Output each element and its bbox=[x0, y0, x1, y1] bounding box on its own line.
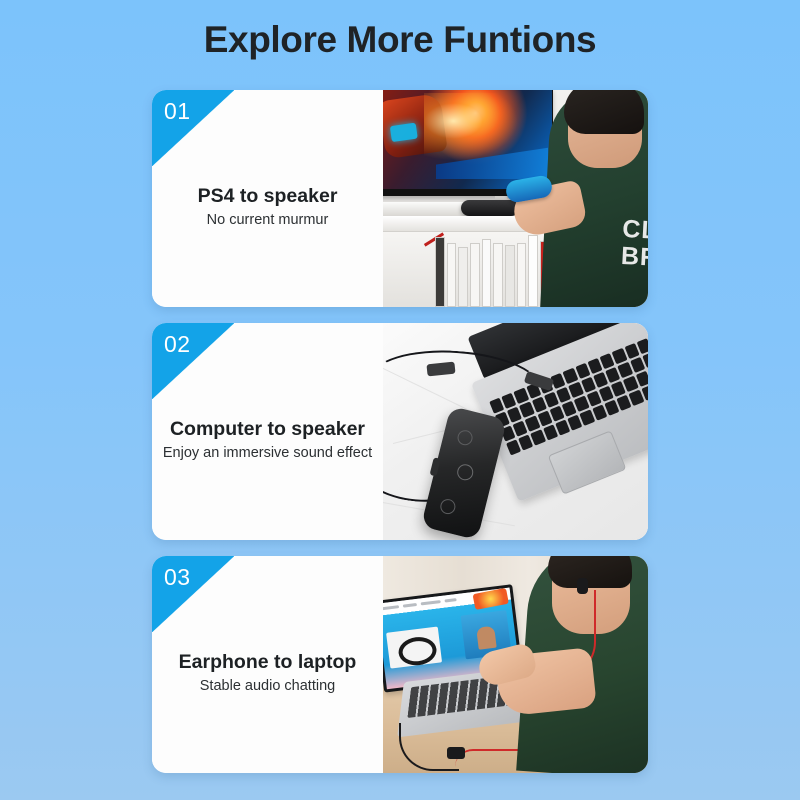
card-number: 02 bbox=[164, 331, 191, 358]
card-text-panel: 02 Computer to speaker Enjoy an immersiv… bbox=[152, 323, 383, 540]
feature-card[interactable]: 03 Earphone to laptop Stable audio chatt… bbox=[152, 556, 648, 773]
card-subtitle: Enjoy an immersive sound effect bbox=[163, 444, 372, 463]
card-text-panel: 03 Earphone to laptop Stable audio chatt… bbox=[152, 556, 383, 773]
page-title: Explore More Funtions bbox=[0, 18, 800, 62]
audio-adapter bbox=[447, 747, 465, 759]
product-image bbox=[386, 627, 442, 669]
game-explosion-glow bbox=[424, 93, 522, 163]
card-title: Computer to speaker bbox=[163, 417, 372, 441]
card-photo-computer-speaker bbox=[383, 323, 648, 540]
shirt-logo: CLBR bbox=[620, 216, 648, 274]
speaker-button-icon bbox=[456, 462, 475, 481]
card-photo-ps4-gaming: CLBR bbox=[383, 90, 648, 307]
card-subtitle: No current murmur bbox=[198, 211, 338, 230]
speaker-device bbox=[461, 200, 519, 216]
card-title: PS4 to speaker bbox=[198, 184, 338, 208]
card-title: Earphone to laptop bbox=[179, 650, 357, 674]
card-subtitle: Stable audio chatting bbox=[179, 677, 357, 696]
card-number: 03 bbox=[164, 564, 191, 591]
feature-card[interactable]: 02 Computer to speaker Enjoy an immersiv… bbox=[152, 323, 648, 540]
person-hair bbox=[548, 556, 632, 588]
card-text-wrap: Earphone to laptop Stable audio chatting bbox=[171, 650, 365, 696]
card-photo-earphone-laptop bbox=[383, 556, 648, 773]
card-text-panel: 01 PS4 to speaker No current murmur bbox=[152, 90, 383, 307]
promo-page: Explore More Funtions 01 PS4 to speaker … bbox=[0, 0, 800, 800]
book-row bbox=[435, 235, 547, 307]
person-hair bbox=[564, 90, 644, 134]
card-text-wrap: PS4 to speaker No current murmur bbox=[190, 184, 346, 230]
feature-card-list: 01 PS4 to speaker No current murmur bbox=[152, 90, 648, 773]
tv-screen bbox=[383, 90, 552, 189]
earphone-wire bbox=[455, 749, 525, 767]
feature-card[interactable]: 01 PS4 to speaker No current murmur bbox=[152, 90, 648, 307]
card-text-wrap: Computer to speaker Enjoy an immersive s… bbox=[155, 417, 380, 463]
card-number: 01 bbox=[164, 98, 191, 125]
